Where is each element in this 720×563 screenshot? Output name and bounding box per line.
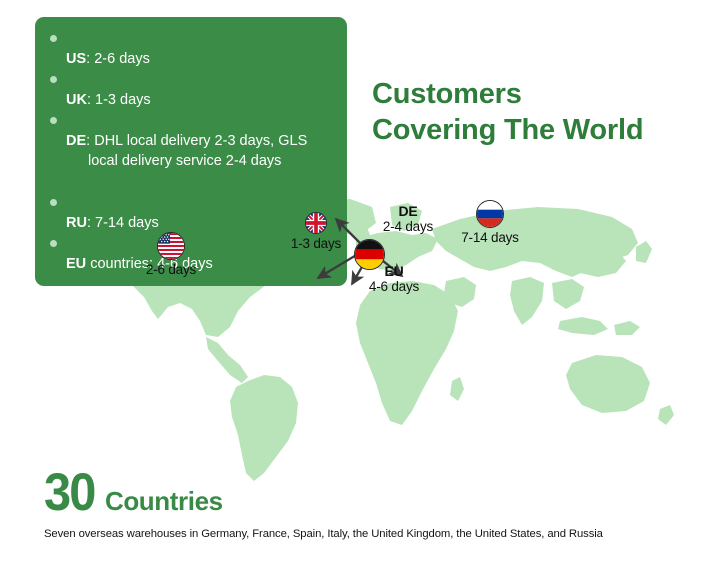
country-code: DE — [66, 133, 86, 149]
page-title: Customers Covering The World — [372, 76, 702, 148]
delivery-time: 2-6 days — [94, 51, 150, 67]
country-count-word: Countries — [105, 488, 223, 514]
country-code: RU — [66, 215, 87, 231]
country-code: US — [66, 51, 86, 67]
marker-label-us: 2-6 days — [146, 262, 196, 277]
country-count-row: 30 Countries — [44, 466, 684, 519]
marker-label-ru: 7-14 days — [461, 230, 519, 245]
separator: : — [87, 92, 95, 108]
page-title-line-2: Covering The World — [372, 112, 702, 148]
list-item: UK: 1-3 days — [49, 69, 333, 110]
separator: : — [86, 51, 94, 67]
callout-de-label: 2-4 days — [383, 219, 433, 234]
delivery-time-continuation: local delivery service 2-4 days — [66, 151, 333, 172]
ru-flag-icon — [476, 200, 504, 228]
country-code: EU — [66, 256, 86, 272]
marker-us[interactable]: 2-6 days — [138, 232, 204, 277]
list-item: US: 2-6 days — [49, 28, 333, 69]
separator: : — [86, 133, 94, 149]
footer-caption: Seven overseas warehouses in Germany, Fr… — [44, 528, 684, 540]
delivery-time: 1-3 days — [95, 92, 151, 108]
list-item: DE: DHL local delivery 2-3 days, GLS loc… — [49, 110, 333, 192]
callout-de: DE 2-4 days — [362, 203, 454, 234]
callout-eu: EU 4-6 days — [348, 263, 440, 294]
callout-eu-code: EU — [348, 263, 440, 279]
callout-eu-label: 4-6 days — [369, 279, 419, 294]
country-count-number: 30 — [44, 466, 95, 519]
callout-de-code: DE — [362, 203, 454, 219]
delivery-time: 7-14 days — [95, 215, 159, 231]
uk-flag-icon — [305, 212, 327, 234]
page-title-line-1: Customers — [372, 76, 702, 112]
footer: 30 Countries Seven overseas warehouses i… — [44, 466, 684, 540]
country-code: UK — [66, 92, 87, 108]
separator: : — [87, 215, 95, 231]
marker-ru[interactable]: 7-14 days — [452, 200, 528, 245]
marker-label-uk: 1-3 days — [291, 236, 341, 251]
us-flag-icon — [157, 232, 185, 260]
delivery-time: DHL local delivery 2-3 days, GLS — [94, 133, 307, 149]
marker-uk[interactable]: 1-3 days — [281, 212, 351, 251]
